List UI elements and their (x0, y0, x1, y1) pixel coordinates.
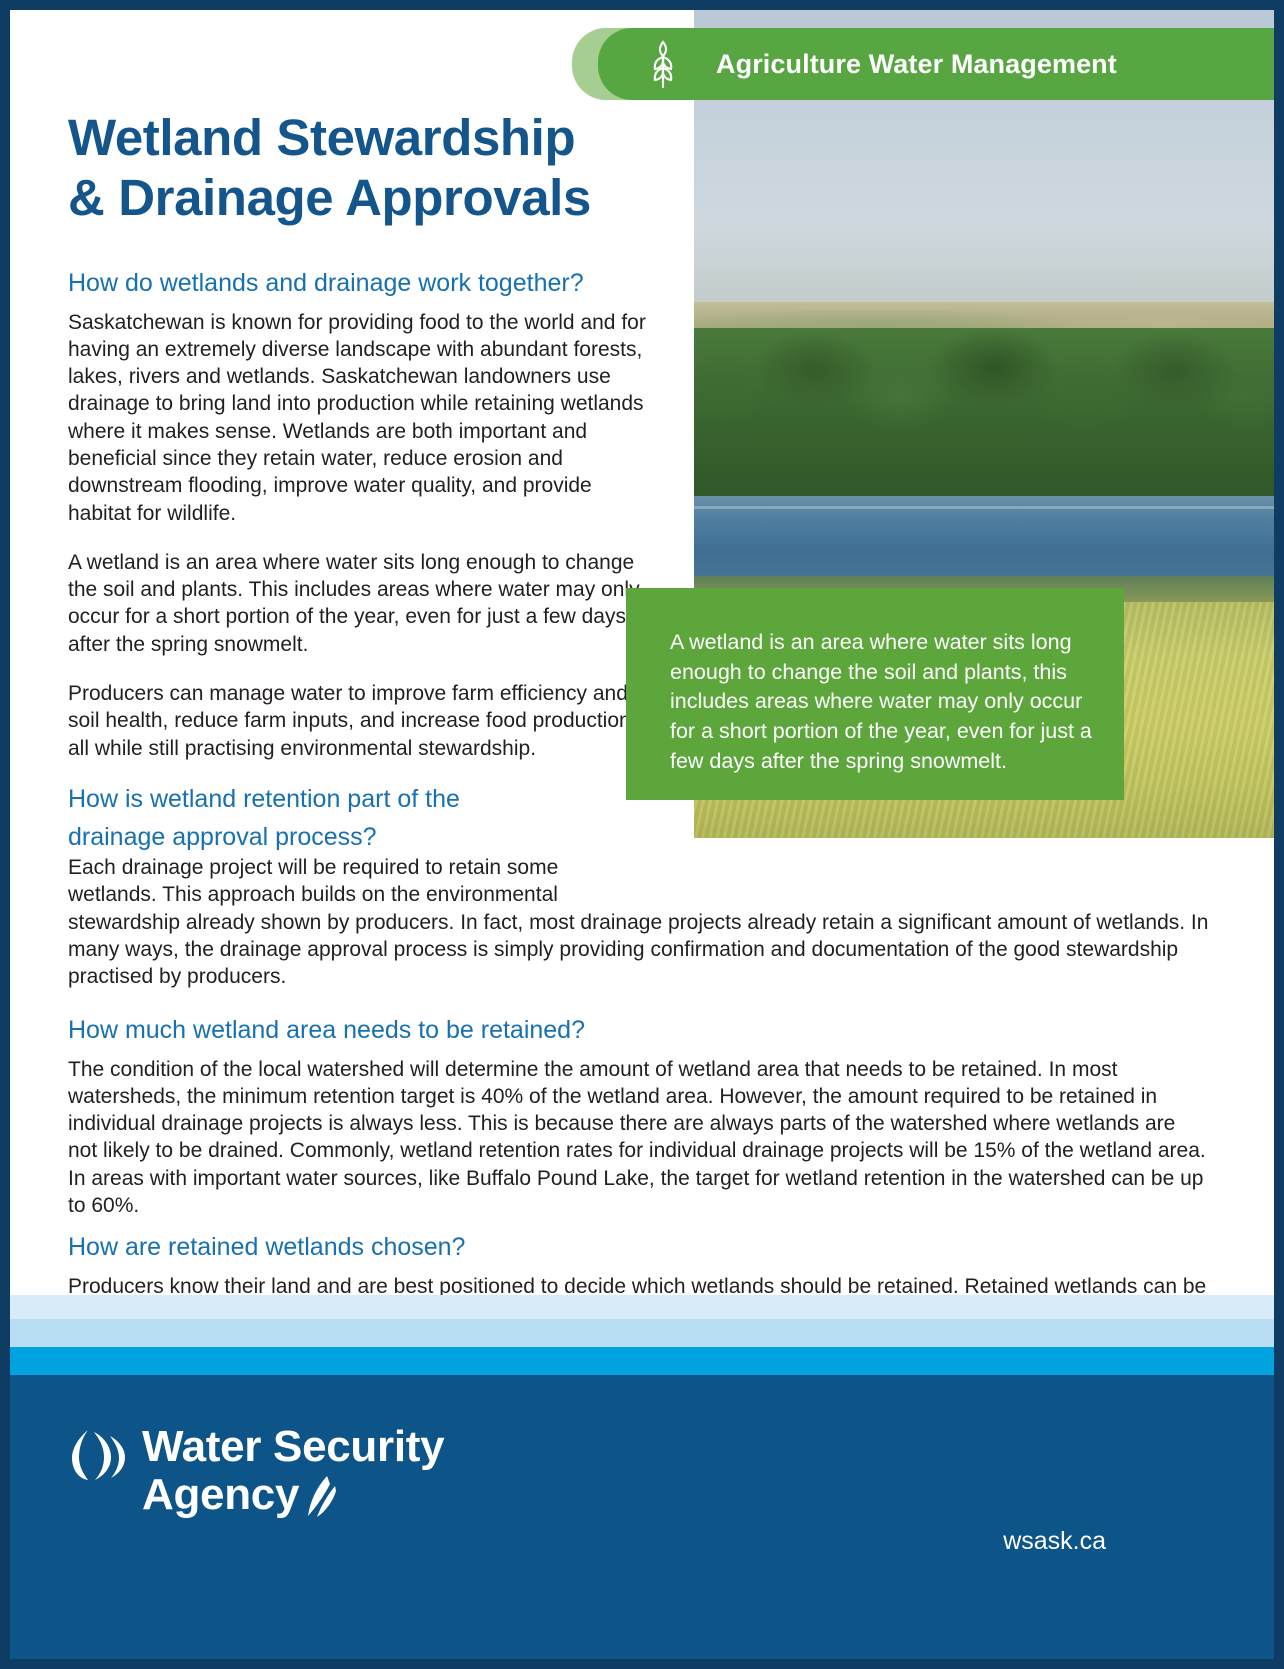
wsa-leaf-icon (305, 1474, 339, 1518)
photo-text-wrap-spacer (630, 854, 1210, 902)
photo-treeline (694, 328, 1274, 513)
approval-process-body: Each drainage project will be required t… (68, 854, 1210, 990)
page-title-line-2: & Drainage Approvals (68, 168, 708, 228)
agriculture-water-management-banner: Agriculture Water Management (598, 28, 1274, 100)
section-heading-how-do-wetlands-work: How do wetlands and drainage work togeth… (68, 268, 660, 300)
section-heading-how-are-chosen: How are retained wetlands chosen? (68, 1232, 1210, 1264)
retention-amount-section: How much wetland area needs to be retain… (68, 1015, 1210, 1219)
page-title-line-1: Wetland Stewardship (68, 108, 708, 168)
footer-band-light (10, 1319, 1274, 1347)
wheat-stalk-icon (646, 37, 680, 91)
logo-line-2: Agency (142, 1471, 299, 1519)
paragraph-producers-manage-water: Producers can manage water to improve fa… (68, 680, 660, 762)
logo-line-1: Water Security (142, 1422, 444, 1471)
section-heading-retention-part-of-approval-2: drainage approval process? (68, 822, 660, 854)
paragraph-retention-targets: The condition of the local watershed wil… (68, 1056, 1210, 1220)
section-heading-how-much-area: How much wetland area needs to be retain… (68, 1015, 1210, 1047)
page-title: Wetland Stewardship & Drainage Approvals (68, 108, 708, 228)
wsa-droplet-waves-icon (66, 1427, 128, 1483)
wetland-definition-callout: A wetland is an area where water sits lo… (626, 588, 1124, 800)
footer-band-lightest (10, 1295, 1274, 1319)
paragraph-wetland-definition: A wetland is an area where water sits lo… (68, 549, 660, 658)
water-security-agency-logo: Water Security Agency (66, 1423, 444, 1518)
callout-text: A wetland is an area where water sits lo… (670, 628, 1106, 776)
logo-wordmark: Water Security Agency (142, 1423, 444, 1518)
paragraph-saskatchewan-intro: Saskatchewan is known for providing food… (68, 309, 660, 527)
banner-title: Agriculture Water Management (716, 49, 1117, 80)
page-sheet: Agriculture Water Management Wetland Ste… (10, 10, 1274, 1659)
photo-wetland-water (694, 496, 1274, 588)
intro-column: How do wetlands and drainage work togeth… (68, 268, 660, 863)
section-heading-retention-part-of-approval-1: How is wetland retention part of the (68, 784, 660, 816)
footer-website-url[interactable]: wsask.ca (1003, 1527, 1106, 1556)
footer: Water Security Agency wsask.ca (10, 1375, 1274, 1659)
document-page: Agriculture Water Management Wetland Ste… (0, 0, 1284, 1669)
footer-band-cyan (10, 1347, 1274, 1375)
